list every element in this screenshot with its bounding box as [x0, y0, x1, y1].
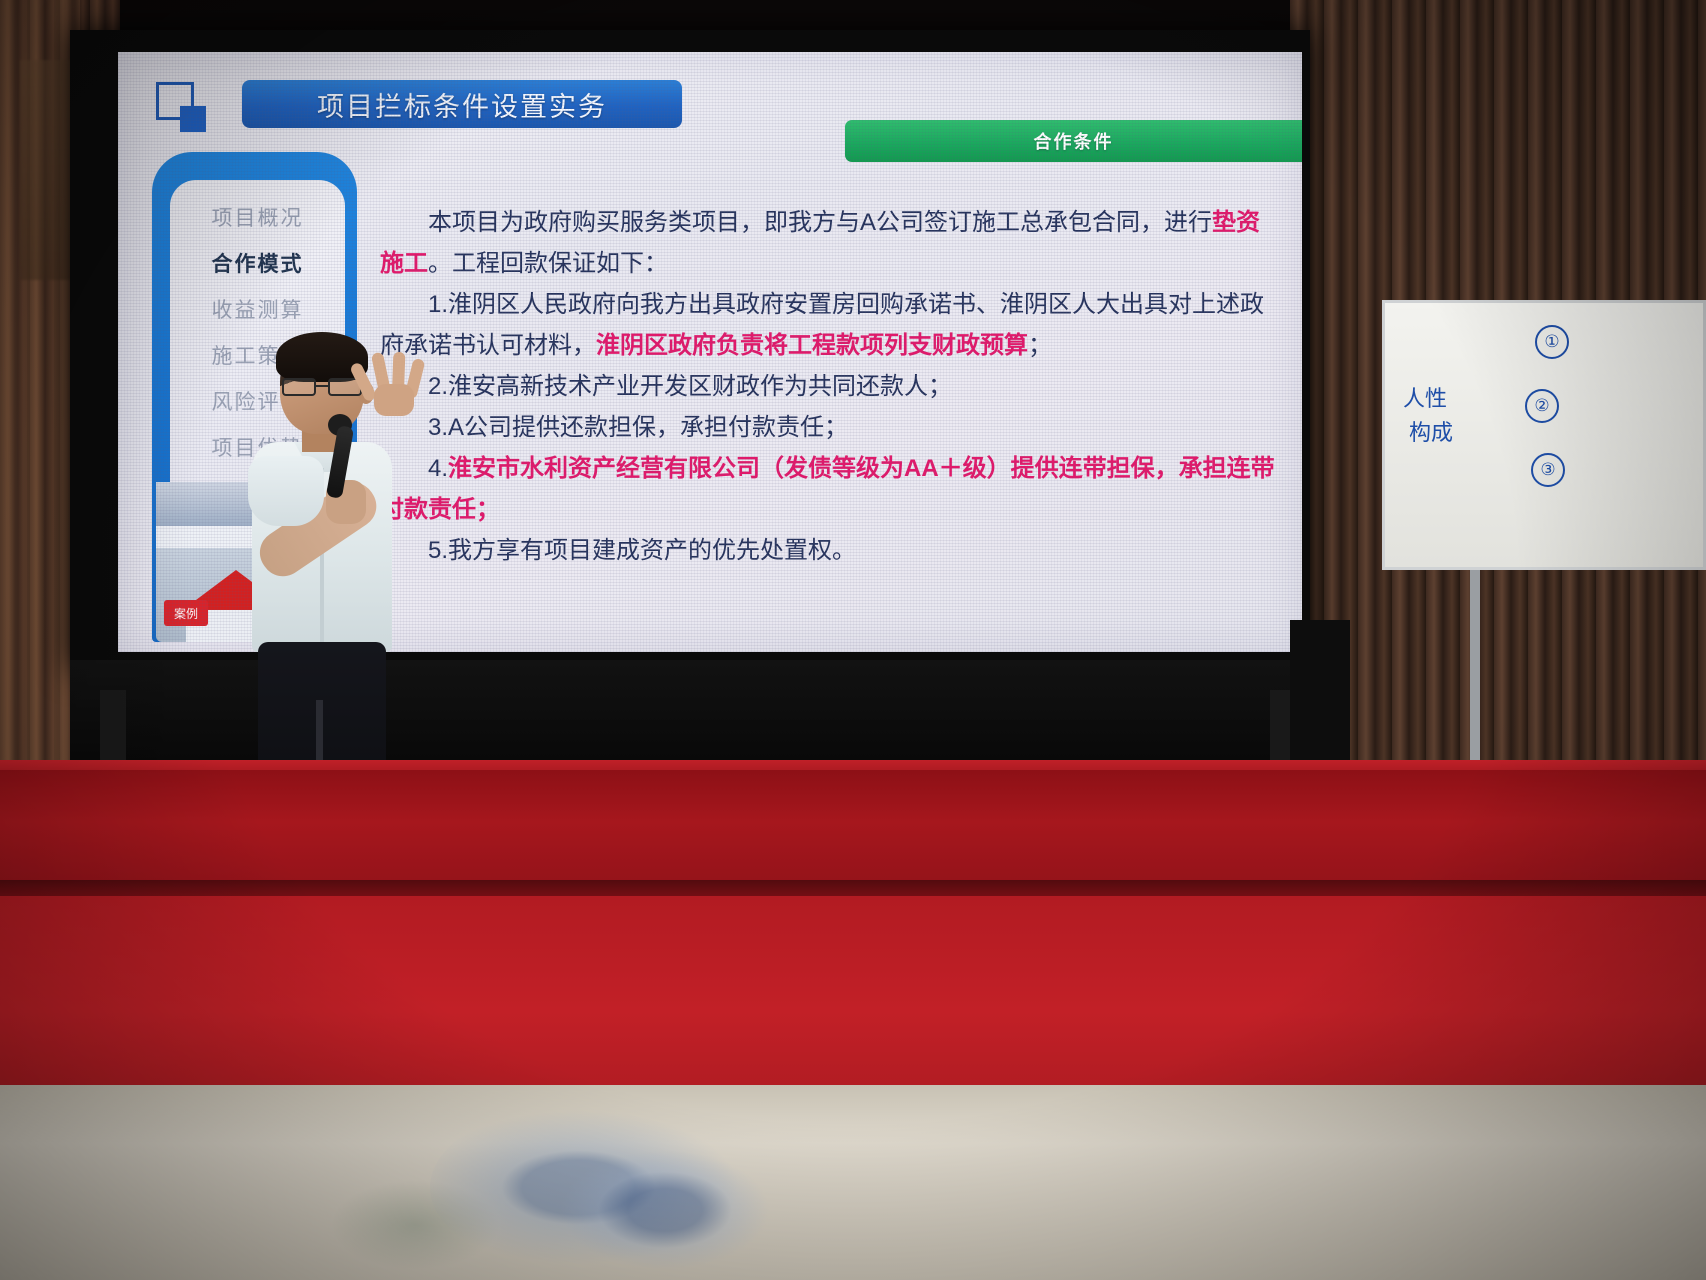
thumbnail-badge: 案例 — [164, 600, 208, 626]
presenter-pointing-hand — [366, 352, 426, 414]
body-intro-paragraph: 本项目为政府购买服务类项目，即我方与A公司签订施工总承包合同，进行垫资施工。工程… — [380, 202, 1280, 284]
whiteboard: ① ② ③ 人性 构成 — [1382, 300, 1706, 570]
sidebar-item-revenue-estimate[interactable]: 收益测算 — [170, 286, 345, 332]
slide-title-banner: 项目拦标条件设置实务 — [242, 80, 682, 128]
patterned-carpet — [0, 1085, 1706, 1280]
whiteboard-number-3: ③ — [1531, 453, 1565, 487]
section-tag-banner: 合作条件 — [845, 120, 1302, 162]
body-item-5: 5.我方享有项目建成资产的优先处置权。 — [380, 530, 1280, 571]
whiteboard-number-1: ① — [1535, 325, 1569, 359]
sidebar-item-project-overview[interactable]: 项目概况 — [170, 194, 345, 240]
body-item-2: 2.淮安高新技术产业开发区财政作为共同还款人； — [380, 366, 1280, 407]
slide-title: 项目拦标条件设置实务 — [317, 85, 607, 124]
whiteboard-stand — [1470, 570, 1480, 785]
whiteboard-number-2: ② — [1525, 389, 1559, 423]
slide-body-text: 本项目为政府购买服务类项目，即我方与A公司签订施工总承包合同，进行垫资施工。工程… — [380, 202, 1280, 571]
square-logo-icon — [156, 82, 202, 128]
body-item-1: 1.淮阴区人民政府向我方出具政府安置房回购承诺书、淮阴区人大出具对上述政府承诺书… — [380, 284, 1280, 366]
conference-room-photo: 项目拦标条件设置实务 合作条件 项目概况 合作模式 收益测算 施工策划 风险评估… — [0, 0, 1706, 1280]
stage-speaker — [1290, 620, 1350, 770]
whiteboard-note-2: 构成 — [1409, 415, 1453, 447]
body-item-4: 4.淮安市水利资产经营有限公司（发债等级为AA＋级）提供连带担保，承担连带付款责… — [380, 448, 1280, 530]
body-item-3: 3.A公司提供还款担保，承担付款责任； — [380, 407, 1280, 448]
section-tag-label: 合作条件 — [1034, 128, 1114, 154]
whiteboard-note-1: 人性 — [1403, 381, 1447, 413]
sidebar-item-cooperation-mode[interactable]: 合作模式 — [170, 240, 345, 286]
